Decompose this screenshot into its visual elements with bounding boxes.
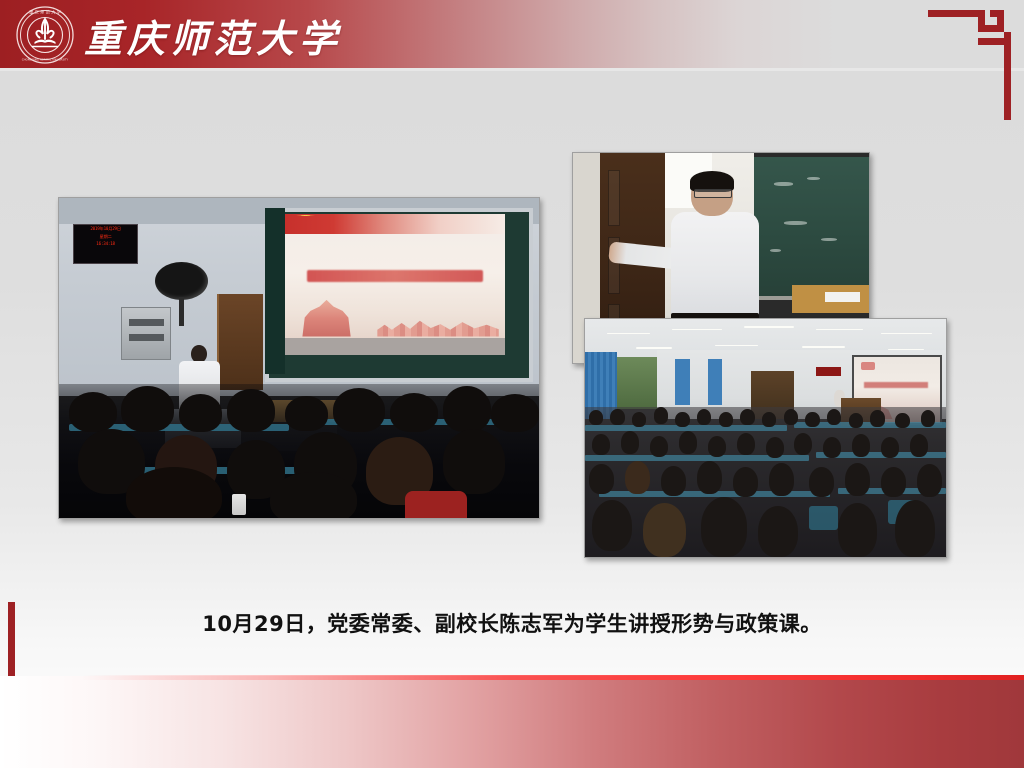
projected-emblem [861, 362, 875, 370]
slide-red-banner [285, 214, 506, 234]
lecturer-torso [671, 212, 760, 328]
chalkboard-left-panel [265, 208, 284, 374]
tiananmen-graphic [298, 300, 355, 337]
classroom-door [217, 294, 262, 390]
svg-text:重 庆 师 范 大 学: 重 庆 师 范 大 学 [29, 8, 61, 15]
led-clock-date: 2019年10月29日 [74, 225, 136, 232]
lecturer-head [191, 345, 207, 363]
green-chalkboard [754, 157, 869, 300]
blue-curtain-mid-1 [675, 359, 689, 404]
audience-area [59, 384, 539, 518]
paper-sheet [825, 292, 861, 303]
eyeglasses-icon [694, 189, 732, 199]
wall-fan-stem [179, 297, 184, 326]
presentation-slide: 重 庆 师 范 大 学 CHONGQING NORMAL UNIVERSITY … [0, 0, 1024, 768]
slide-header-bar: 重 庆 师 范 大 学 CHONGQING NORMAL UNIVERSITY … [0, 0, 1024, 68]
led-clock-weekday: 星期二 [74, 232, 136, 239]
hall-audience [585, 407, 946, 557]
slide-caption: 10月29日，党委常委、副校长陈志军为学生讲授形势与政策课。 [0, 608, 1024, 638]
photo-lecture-hall-full [584, 318, 947, 558]
water-bottle [232, 494, 246, 516]
blue-curtain-mid-2 [708, 359, 722, 404]
led-clock-display: 2019年10月29日 星期二 16:34:18 [73, 224, 137, 264]
university-name-title: 重庆师范大学 [84, 8, 342, 62]
header-separator [0, 68, 1024, 71]
projection-screen-base [285, 338, 506, 355]
student-red-jacket [405, 491, 467, 518]
wall-fan-icon [155, 262, 208, 300]
projected-heading [864, 382, 928, 388]
photo-lecture-room-wide: 2019年10月29日 星期二 16:34:18 [58, 197, 540, 519]
projection-screen [285, 214, 506, 355]
projected-slide-heading [307, 270, 484, 281]
hall-window [617, 357, 657, 409]
led-clock-time: 16:34:18 [74, 240, 136, 247]
footer-accent-line [0, 675, 1024, 680]
footer-gradient-band [0, 676, 1024, 768]
corner-ornament-top-right-icon [900, 0, 1024, 120]
led-sign [816, 367, 841, 377]
svg-text:CHONGQING NORMAL UNIVERSITY: CHONGQING NORMAL UNIVERSITY [22, 58, 69, 62]
skyline-graphic [377, 314, 498, 337]
electrical-panel [121, 307, 171, 360]
university-seal-icon: 重 庆 师 范 大 学 CHONGQING NORMAL UNIVERSITY [16, 6, 74, 64]
party-emblem-icon [296, 215, 316, 217]
